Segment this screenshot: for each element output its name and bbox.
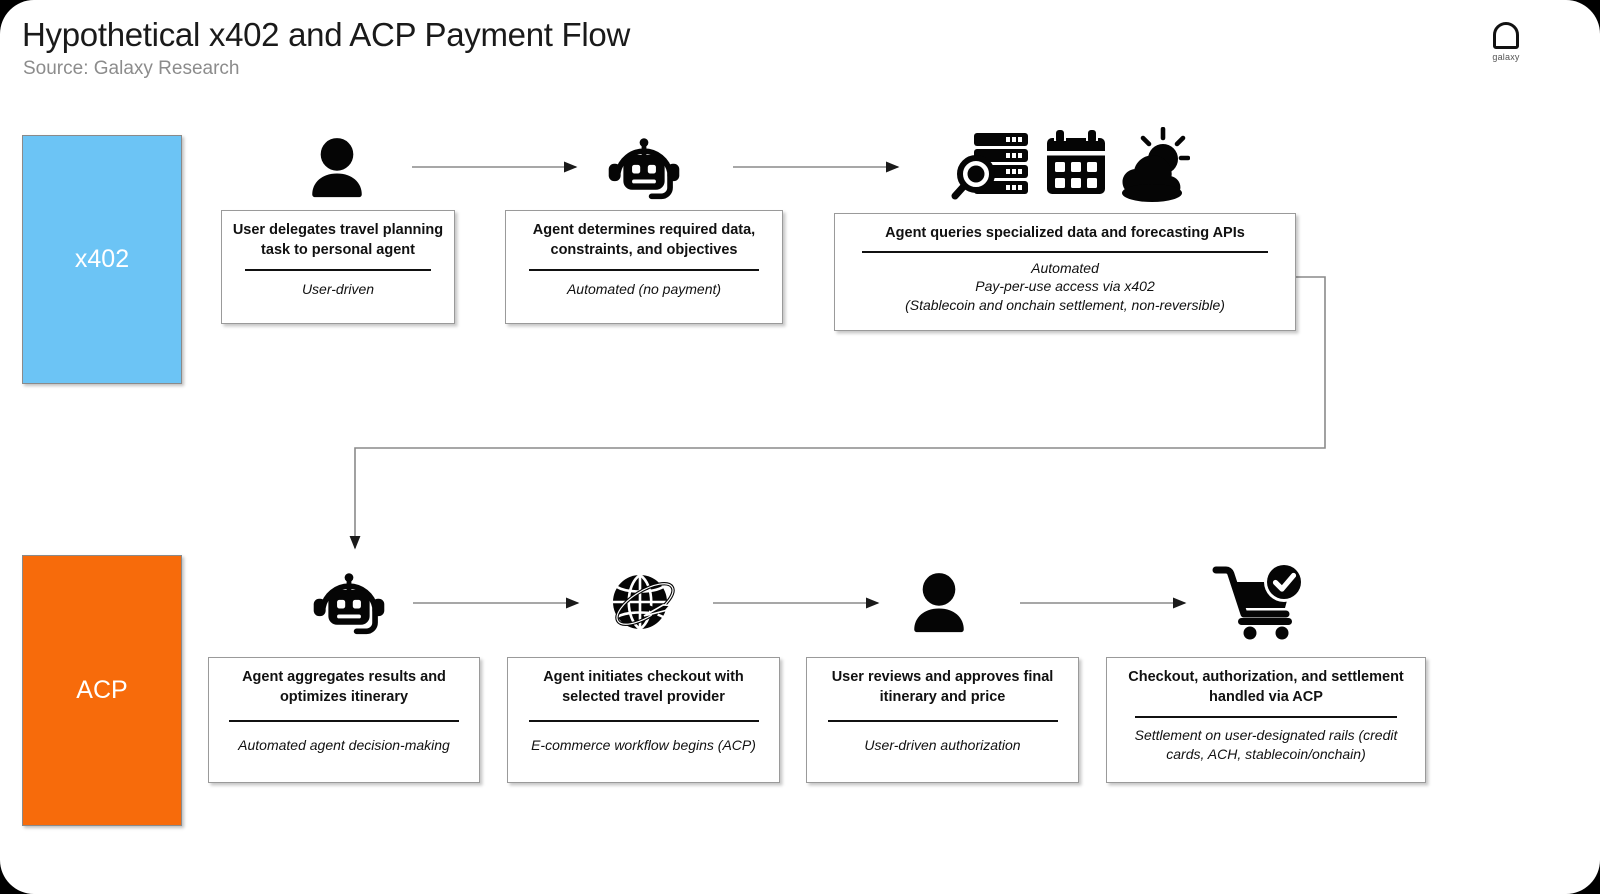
step-card-title: Agent determines required data, constrai…: [516, 221, 772, 260]
step-card: Checkout, authorization, and settlement …: [1106, 657, 1426, 783]
step-card-title: Agent initiates checkout with selected t…: [518, 668, 769, 707]
step-card-note: Automated agent decision-making: [219, 736, 469, 755]
step-card-divider: [529, 720, 759, 722]
step-card-note: Pay-per-use access via x402: [845, 277, 1285, 296]
step-card: Agent initiates checkout with selected t…: [507, 657, 780, 783]
lane-label-acp: ACP: [22, 555, 182, 826]
step-card-divider: [245, 269, 431, 271]
calendar-icon: [1044, 130, 1108, 194]
galaxy-logo-mark-icon: [1493, 22, 1519, 49]
step-card-note: User-driven: [232, 280, 444, 299]
step-card: Agent queries specialized data and forec…: [834, 213, 1296, 331]
galaxy-logo-wordmark: galaxy: [1484, 52, 1528, 62]
step-card-title: Checkout, authorization, and settlement …: [1117, 668, 1415, 707]
step-card: User delegates travel planning task to p…: [221, 210, 455, 324]
step-card-note: Settlement on user-designated rails (cre…: [1117, 726, 1415, 764]
api-icon-group: [950, 127, 1190, 205]
user-icon: [898, 560, 980, 640]
database-search-icon: [955, 133, 1028, 196]
weather-icon: [1122, 129, 1188, 202]
step-card: Agent aggregates results and optimizes i…: [208, 657, 480, 783]
step-card-title: Agent aggregates results and optimizes i…: [219, 668, 469, 707]
step-card-note: Automated: [845, 259, 1285, 278]
step-card-divider: [862, 251, 1268, 253]
user-icon: [296, 127, 378, 205]
step-card-title: User delegates travel planning task to p…: [232, 221, 444, 260]
globe-airplane-icon: [600, 560, 686, 640]
step-card: User reviews and approves final itinerar…: [806, 657, 1079, 783]
source-label: Source: Galaxy Research: [23, 58, 240, 80]
step-card: Agent determines required data, constrai…: [505, 210, 783, 324]
cart-check-icon: [1208, 558, 1308, 640]
step-card-note: E-commerce workflow begins (ACP): [518, 736, 769, 755]
robot-headset-icon: [305, 562, 393, 640]
step-card-divider: [1135, 716, 1397, 718]
step-card-note: User-driven authorization: [817, 736, 1068, 755]
step-card-divider: [229, 720, 459, 722]
step-card-title: Agent queries specialized data and forec…: [845, 224, 1285, 244]
lane-label-x402-text: x402: [75, 245, 129, 274]
robot-headset-icon: [600, 127, 688, 205]
step-card-title: User reviews and approves final itinerar…: [817, 668, 1068, 707]
galaxy-logo: galaxy: [1484, 22, 1528, 62]
step-card-note: (Stablecoin and onchain settlement, non-…: [845, 296, 1285, 315]
diagram-page: Hypothetical x402 and ACP Payment Flow S…: [0, 0, 1600, 894]
lane-label-x402: x402: [22, 135, 182, 384]
lane-label-acp-text: ACP: [76, 676, 127, 705]
page-title: Hypothetical x402 and ACP Payment Flow: [22, 16, 630, 54]
step-card-divider: [828, 720, 1058, 722]
step-card-note: Automated (no payment): [516, 280, 772, 299]
step-card-divider: [529, 269, 759, 271]
